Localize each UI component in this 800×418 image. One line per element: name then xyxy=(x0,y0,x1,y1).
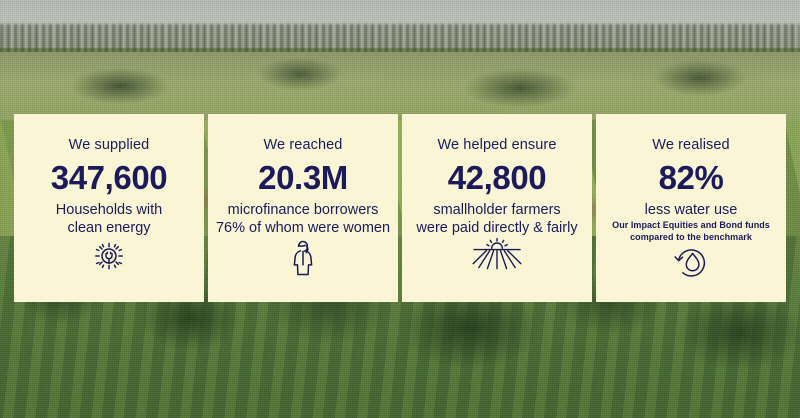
stat-body-line1: microfinance borrowers xyxy=(222,201,385,219)
stat-icon-container xyxy=(671,243,711,283)
stat-eyebrow: We helped ensure xyxy=(437,136,556,154)
stat-icon-container xyxy=(286,237,320,277)
stat-card-clean-energy: We supplied 347,600 Households with clea… xyxy=(14,114,204,302)
impact-stats-banner: We supplied 347,600 Households with clea… xyxy=(0,0,800,418)
stat-eyebrow: We realised xyxy=(652,136,729,154)
stat-card-water-use: We realised 82% less water use Our Impac… xyxy=(596,114,786,302)
stat-card-row: We supplied 347,600 Households with clea… xyxy=(14,114,786,302)
stat-subnote-line1: Our Impact Equities and Bond funds xyxy=(604,220,778,232)
sun-plug-icon xyxy=(89,237,129,277)
stat-body-line2: were paid directly & fairly xyxy=(410,219,583,237)
stat-figure: 20.3M xyxy=(258,158,348,198)
stat-card-microfinance: We reached 20.3M microfinance borrowers … xyxy=(208,114,398,302)
stat-figure: 347,600 xyxy=(51,158,168,198)
stat-body-line1: Households with xyxy=(50,201,168,219)
stat-card-smallholder-farmers: We helped ensure 42,800 smallholder farm… xyxy=(402,114,592,302)
stat-subnote-line2: compared to the benchmark xyxy=(622,232,760,244)
sunrise-field-icon xyxy=(469,237,525,271)
stat-icon-container xyxy=(89,237,129,277)
stat-eyebrow: We supplied xyxy=(69,136,150,154)
stat-body-line1: smallholder farmers xyxy=(427,201,566,219)
stat-eyebrow: We reached xyxy=(264,136,343,154)
water-drop-recycle-icon xyxy=(671,243,711,283)
stat-body-line2: 76% of whom were women xyxy=(210,219,396,237)
stat-icon-container xyxy=(469,237,525,271)
stat-figure: 42,800 xyxy=(448,158,547,198)
woman-icon xyxy=(286,237,320,277)
stat-body-line1: less water use xyxy=(639,201,744,219)
stat-figure: 82% xyxy=(659,158,724,198)
stat-body-line2: clean energy xyxy=(61,219,156,237)
